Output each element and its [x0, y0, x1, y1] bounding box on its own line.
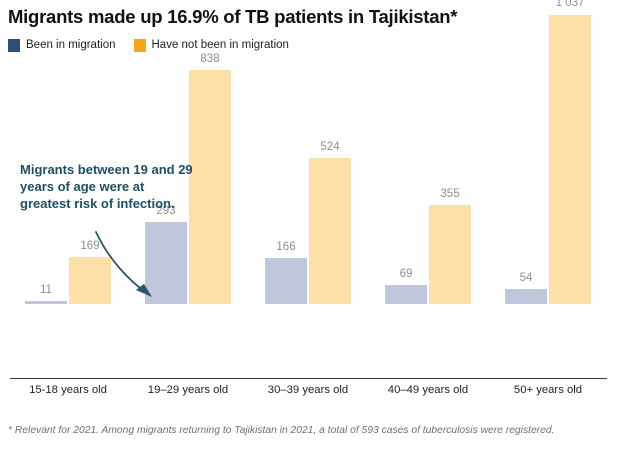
- bar-30-39-been-in-migration[interactable]: 166: [265, 258, 307, 304]
- x-axis-label-40-49: 40–49 years old: [358, 384, 498, 396]
- bar-19-29-been-in-migration[interactable]: 293: [145, 222, 187, 304]
- chart-annotation: Migrants between 19 and 29 years of age …: [20, 161, 198, 212]
- bar-value-50-plus-a: 54: [496, 272, 556, 284]
- bar-group-15-18: 11 169: [25, 4, 111, 304]
- bar-group-30-39: 166 524: [265, 4, 351, 304]
- bar-15-18-been-in-migration[interactable]: 11: [25, 301, 67, 304]
- bar-40-49-have-not-been-in-migration[interactable]: 355: [429, 205, 471, 304]
- bar-value-30-39-a: 166: [256, 241, 316, 253]
- bar-value-30-39-b: 524: [300, 141, 360, 153]
- bar-group-19-29: 293 838: [145, 4, 231, 304]
- bar-value-15-18-b: 169: [60, 240, 120, 252]
- bar-40-49-been-in-migration[interactable]: 69: [385, 285, 427, 304]
- x-axis-label-19-29: 19–29 years old: [118, 384, 258, 396]
- bar-value-50-plus-b: 1 037: [540, 0, 600, 9]
- bar-15-18-have-not-been-in-migration[interactable]: 169: [69, 257, 111, 304]
- bar-group-50-plus: 54 1 037: [505, 4, 591, 304]
- bar-50-plus-have-not-been-in-migration[interactable]: 1 037: [549, 15, 591, 304]
- bar-50-plus-been-in-migration[interactable]: 54: [505, 289, 547, 304]
- bar-30-39-have-not-been-in-migration[interactable]: 524: [309, 158, 351, 304]
- bar-value-40-49-a: 69: [376, 268, 436, 280]
- bar-group-40-49: 69 355: [385, 4, 471, 304]
- x-axis-label-50-plus: 50+ years old: [478, 384, 618, 396]
- x-axis-line: [10, 378, 607, 379]
- bar-value-15-18-a: 11: [16, 284, 76, 296]
- bar-value-40-49-b: 355: [420, 188, 480, 200]
- x-axis-label-30-39: 30–39 years old: [238, 384, 378, 396]
- bar-value-19-29-b: 838: [180, 53, 240, 65]
- chart-footnote: * Relevant for 2021. Among migrants retu…: [8, 424, 600, 438]
